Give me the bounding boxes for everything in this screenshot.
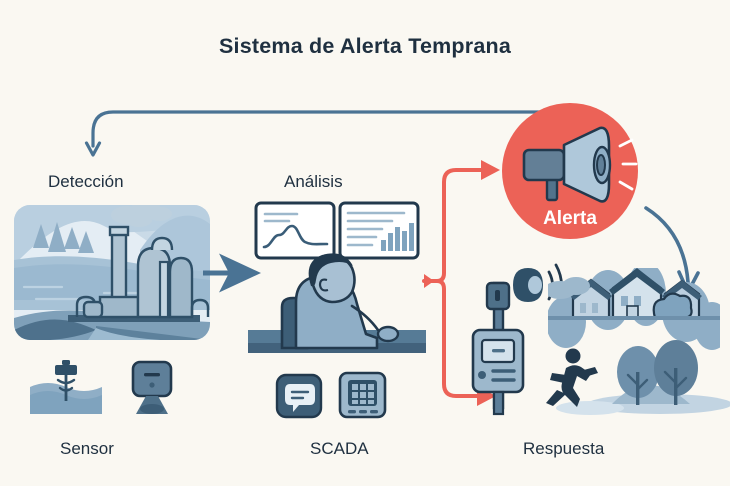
caption-scada: SCADA bbox=[310, 439, 369, 458]
diagram-text-layer: Sistema de Alerta Temprana Detección Aná… bbox=[0, 0, 730, 486]
stage-label-analisis: Análisis bbox=[284, 172, 343, 191]
alert-node-label: Alerta bbox=[543, 208, 597, 229]
caption-respuesta: Respuesta bbox=[523, 439, 605, 458]
caption-sensor: Sensor bbox=[60, 439, 114, 458]
stage-label-deteccion: Detección bbox=[48, 172, 124, 191]
diagram-canvas: Sistema de Alerta Temprana Detección Aná… bbox=[0, 0, 730, 486]
page-title: Sistema de Alerta Temprana bbox=[219, 34, 512, 58]
